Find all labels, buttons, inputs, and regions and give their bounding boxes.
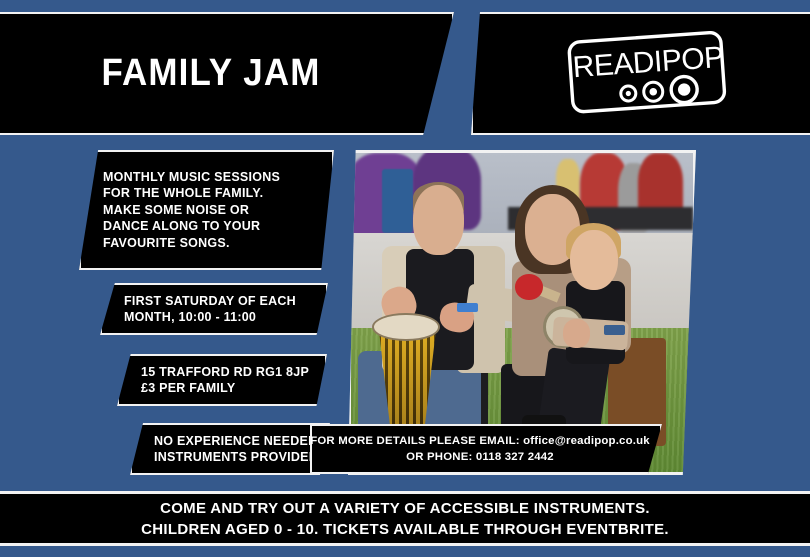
info-block-schedule: FIRST SATURDAY OF EACH MONTH, 10:00 - 11… — [100, 283, 328, 335]
location-line: 15 TRAFFORD RD RG1 8JP — [141, 364, 309, 381]
info-block-description: MONTHLY MUSIC SESSIONS FOR THE WHOLE FAM… — [79, 150, 334, 270]
photo-man-head — [413, 185, 464, 255]
info-block-location-price: 15 TRAFFORD RD RG1 8JP £3 PER FAMILY — [117, 354, 327, 406]
description-line-5: FAVOURITE SONGS. — [103, 235, 230, 252]
photo-bin — [382, 169, 413, 233]
photo-djembe-drum-head — [372, 313, 440, 342]
schedule-line-1: FIRST SATURDAY OF EACH — [124, 293, 296, 310]
svg-text:READIPOP: READIPOP — [571, 40, 724, 83]
contact-phone-line: OR PHONE: 0118 327 2442 — [406, 449, 554, 465]
schedule-line-2: MONTH, 10:00 - 11:00 — [124, 309, 256, 326]
description-line-2: FOR THE WHOLE FAMILY. — [103, 185, 263, 202]
family-jam-poster: FAMILY JAM READIPOP MONTHLY MUS — [0, 0, 810, 557]
page-title: FAMILY JAM — [102, 52, 321, 95]
readipop-logo: READIPOP — [565, 31, 733, 117]
info-block-requirements: NO EXPERIENCE NEEDED, INSTRUMENTS PROVID… — [130, 423, 330, 475]
description-line-4: DANCE ALONG TO YOUR — [103, 218, 260, 235]
footer-line-2: CHILDREN AGED 0 - 10. TICKETS AVAILABLE … — [141, 519, 669, 540]
description-line-3: MAKE SOME NOISE OR — [103, 202, 249, 219]
footer-banner: COME AND TRY OUT A VARIETY OF ACCESSIBLE… — [0, 491, 810, 546]
price-line: £3 PER FAMILY — [141, 380, 236, 397]
contact-bar: FOR MORE DETAILS PLEASE EMAIL: office@re… — [310, 424, 662, 474]
title-banner: FAMILY JAM — [0, 12, 454, 135]
description-line-1: MONTHLY MUSIC SESSIONS — [103, 169, 280, 186]
photo-woman-hand — [563, 319, 590, 348]
footer-line-1: COME AND TRY OUT A VARIETY OF ACCESSIBLE… — [160, 498, 650, 519]
requirements-line-1: NO EXPERIENCE NEEDED, — [154, 433, 321, 450]
requirements-line-2: INSTRUMENTS PROVIDED — [154, 449, 318, 466]
photo-toddler-head — [570, 230, 618, 291]
photo-woman-wristband — [604, 325, 625, 335]
logo-banner: READIPOP — [471, 12, 810, 135]
contact-email-line: FOR MORE DETAILS PLEASE EMAIL: office@re… — [310, 433, 650, 449]
photo-wristband — [457, 303, 478, 313]
photo-maraca — [515, 274, 542, 300]
